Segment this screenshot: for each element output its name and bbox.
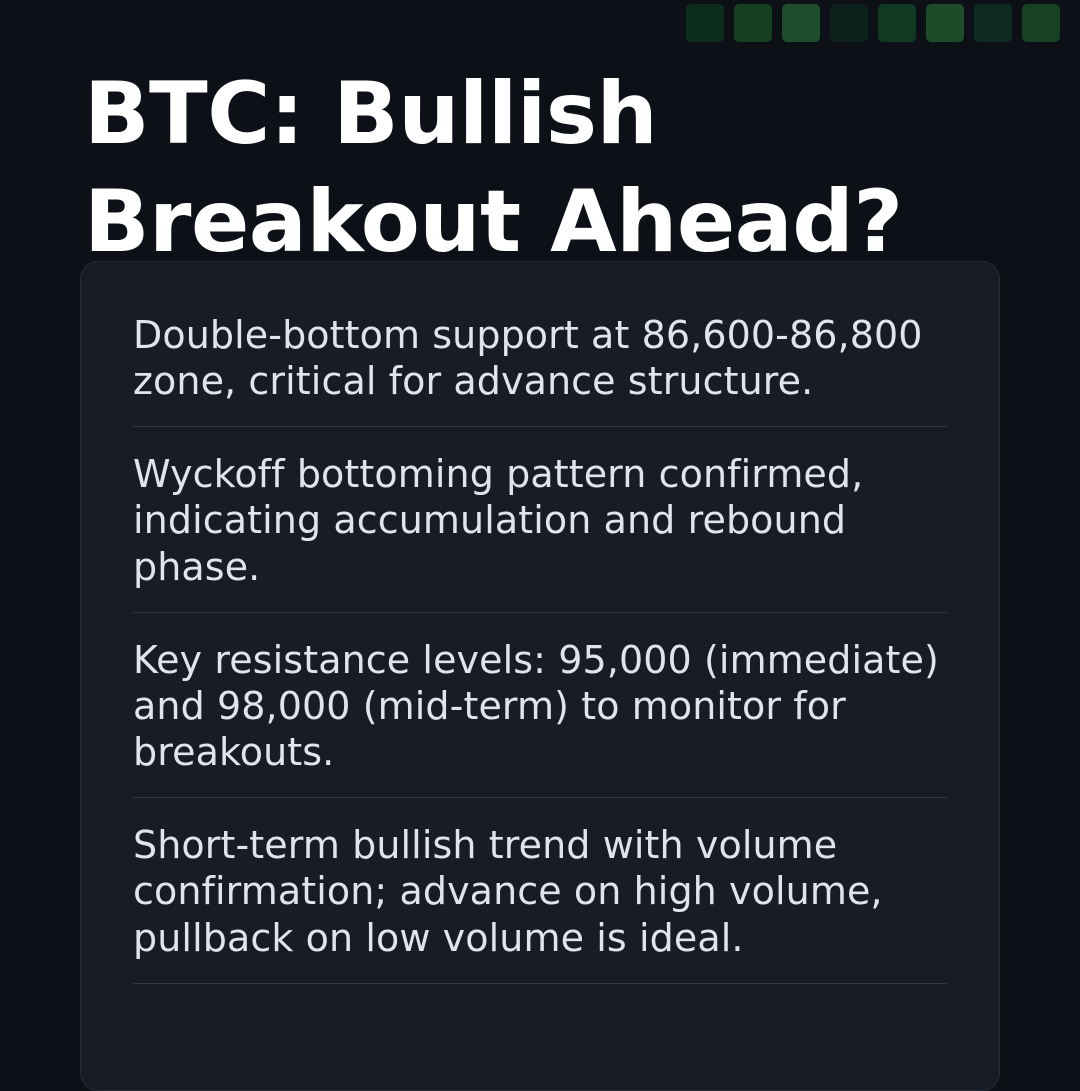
- insight-row: Wyckoff bottoming pattern confirmed, ind…: [133, 427, 947, 612]
- insight-text: Wyckoff bottoming pattern confirmed, ind…: [133, 451, 947, 589]
- heatmap-cell-4: [830, 4, 868, 42]
- heatmap-cell-3: [782, 4, 820, 42]
- insight-text: Key resistance levels: 95,000 (immediate…: [133, 637, 947, 775]
- heatmap-cell-1: [686, 4, 724, 42]
- heatmap-cell-5: [878, 4, 916, 42]
- insight-text: Double-bottom support at 86,600-86,800 z…: [133, 312, 947, 404]
- insight-row: Short-term bullish trend with volume con…: [133, 798, 947, 983]
- heatmap-cell-6: [926, 4, 964, 42]
- activity-heatmap-strip: [686, 4, 1060, 42]
- insight-row: Double-bottom support at 86,600-86,800 z…: [133, 288, 947, 427]
- insight-row: Key resistance levels: 95,000 (immediate…: [133, 613, 947, 798]
- heatmap-cell-7: [974, 4, 1012, 42]
- page-title: BTC: Bullish Breakout Ahead?: [84, 58, 1020, 277]
- heatmap-cell-8: [1022, 4, 1060, 42]
- insight-card: Double-bottom support at 86,600-86,800 z…: [80, 261, 1000, 1091]
- insight-text: Short-term bullish trend with volume con…: [133, 822, 947, 960]
- heatmap-cell-2: [734, 4, 772, 42]
